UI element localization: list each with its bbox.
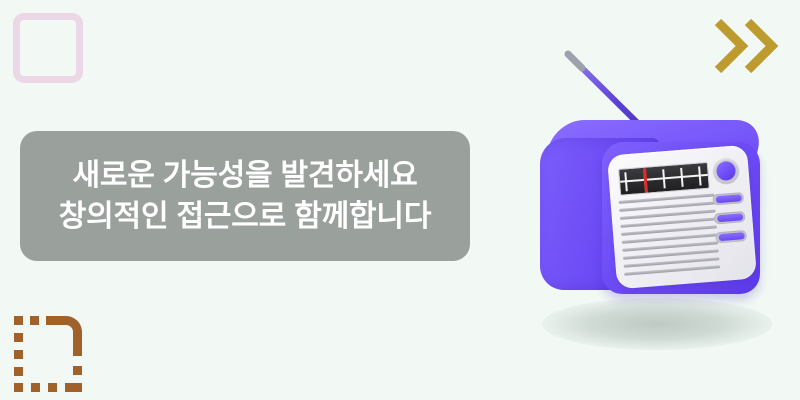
radio-speaker-grille	[619, 193, 721, 276]
outlined-square-decoration	[13, 13, 83, 83]
radio-preset-button[interactable]	[712, 192, 744, 205]
headline-plate: 새로운 가능성을 발견하세요 창의적인 접근으로 함께합니다	[20, 131, 470, 261]
headline-line-2: 창의적인 접근으로 함께합니다	[59, 196, 431, 237]
radio-volume-knob[interactable]	[712, 156, 741, 185]
radio-illustration	[520, 18, 790, 348]
radio-preset-button[interactable]	[715, 230, 747, 243]
radio-preset-button[interactable]	[714, 211, 746, 224]
radio-body	[540, 120, 764, 295]
radio-preset-button-cap	[718, 232, 744, 241]
radio-preset-button-cap	[716, 213, 742, 222]
dashed-square-decoration	[14, 316, 86, 392]
headline-line-1: 새로운 가능성을 발견하세요	[72, 155, 417, 196]
grille-line	[624, 265, 720, 275]
radio-tuning-dial[interactable]	[618, 162, 710, 196]
radio-face-panel	[607, 145, 757, 290]
radio-preset-button-cap	[715, 194, 741, 203]
promo-banner: 새로운 가능성을 발견하세요 창의적인 접근으로 함께합니다	[0, 0, 800, 400]
